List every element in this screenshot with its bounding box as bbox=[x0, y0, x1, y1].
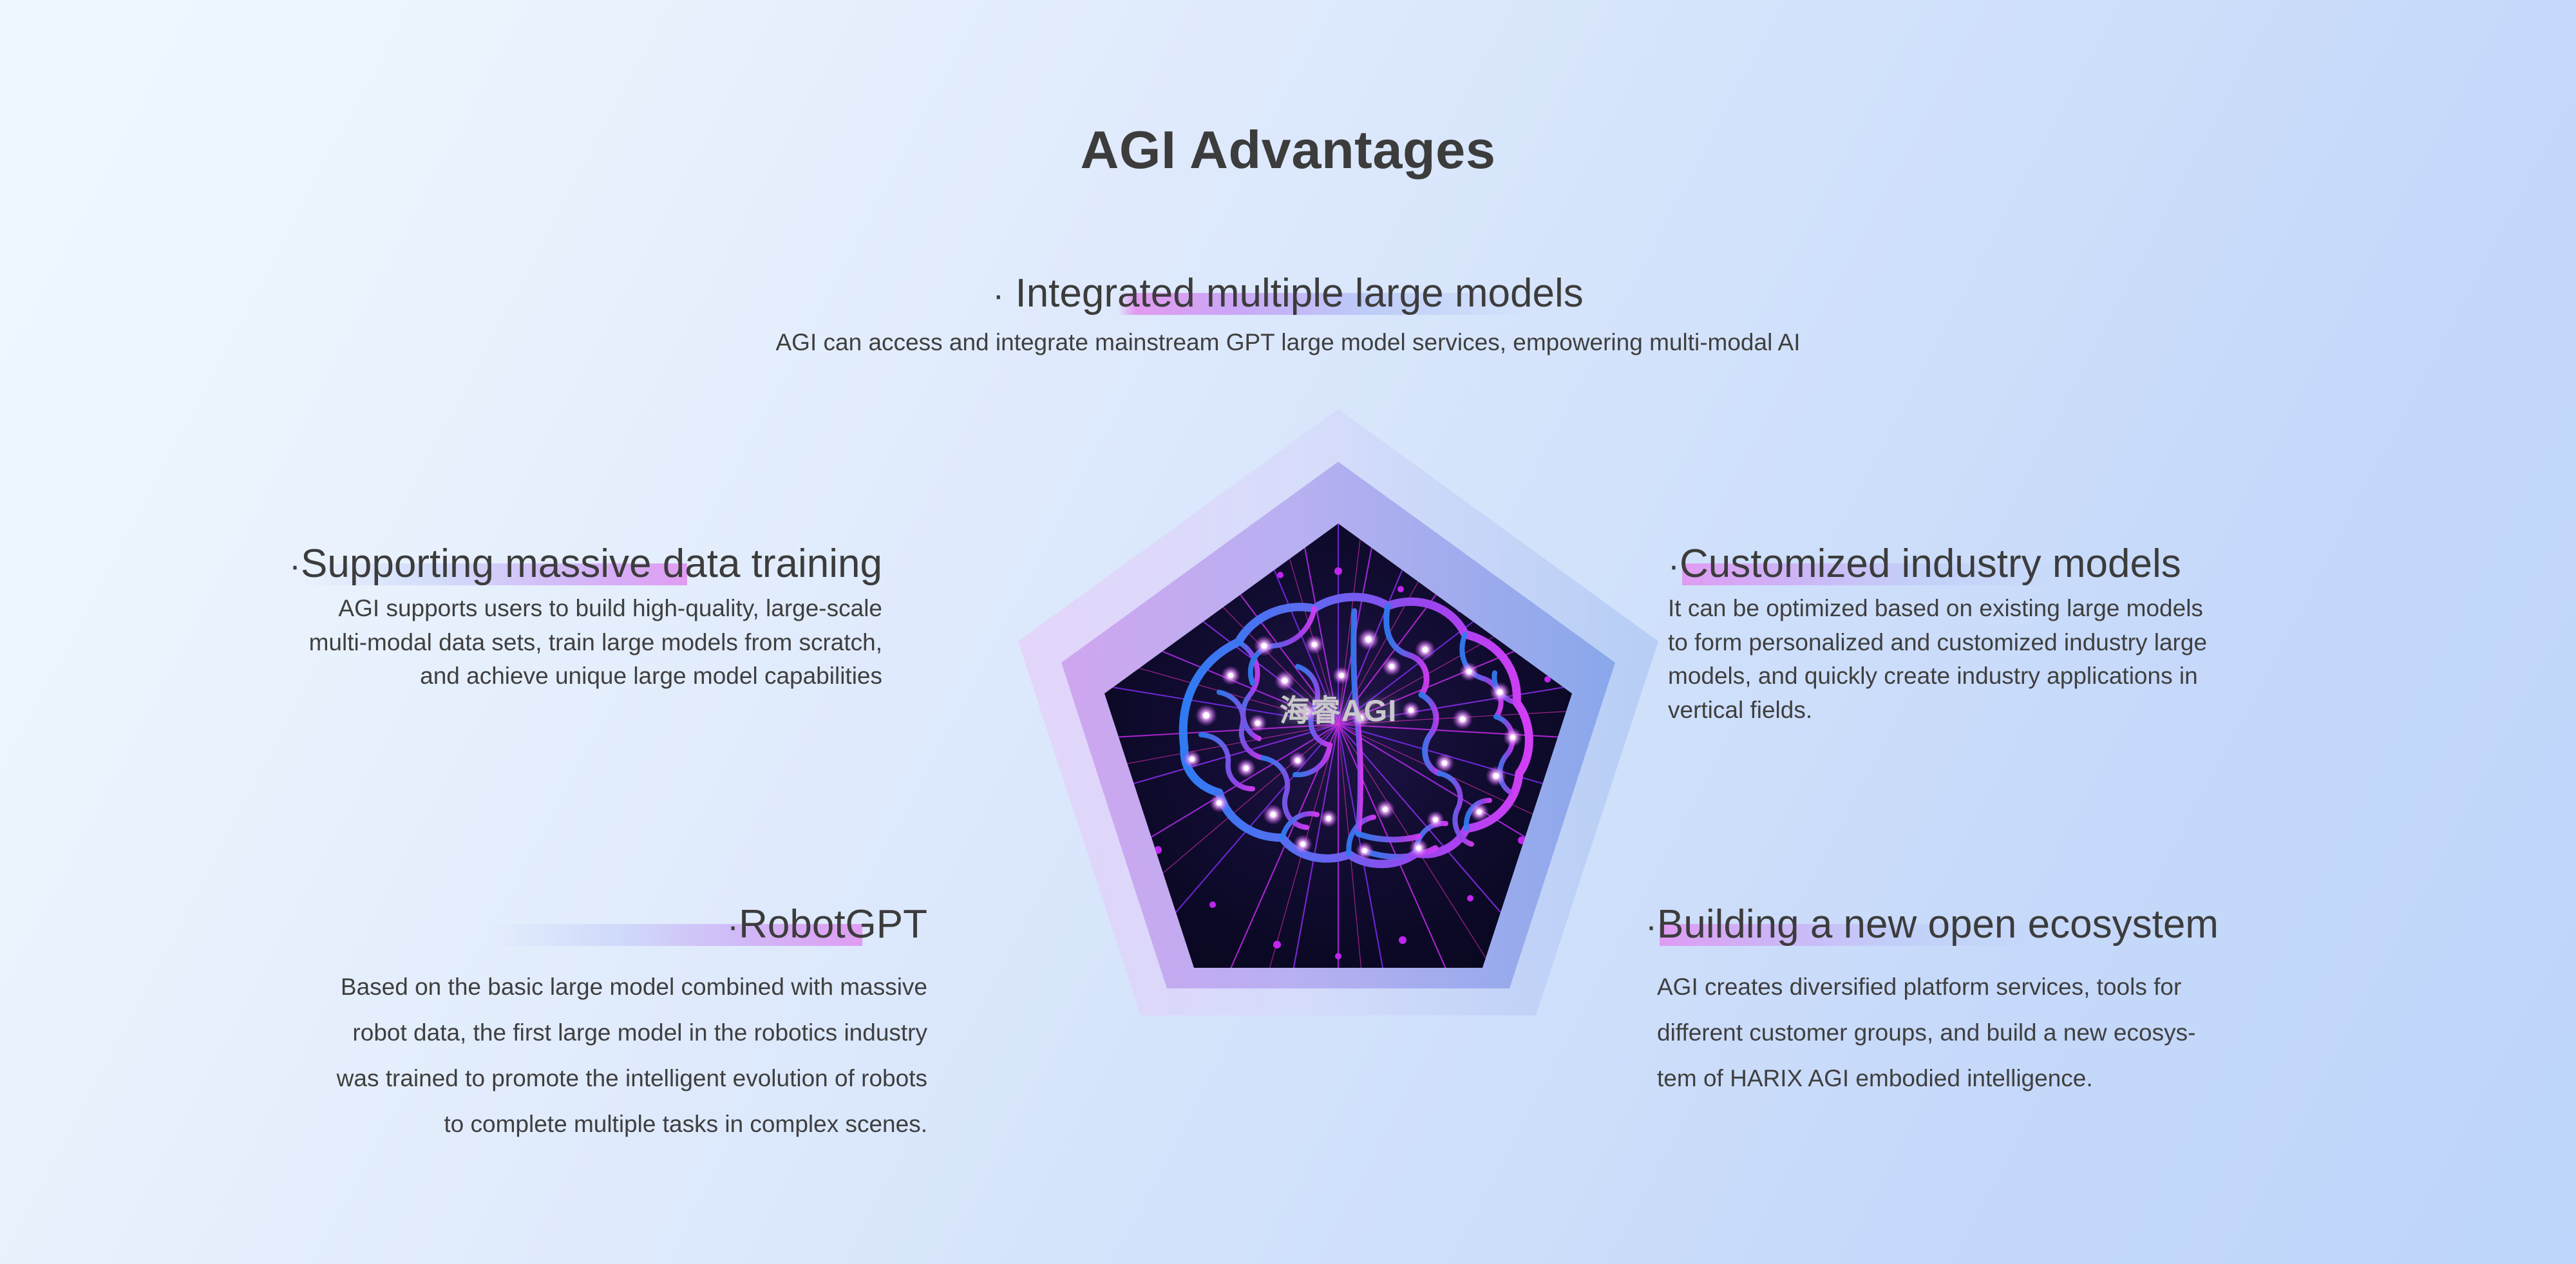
body-line: models, and quickly create industry appl… bbox=[1668, 659, 2524, 693]
body-line: different customer groups, and build a n… bbox=[1657, 1010, 2534, 1055]
body-line: It can be optimized based on existing la… bbox=[1668, 592, 2524, 626]
body-left-mid: AGI supports users to build high-quality… bbox=[0, 592, 882, 693]
bullet-dot: · bbox=[727, 907, 739, 945]
heading-left-mid: ·Supporting massive data training bbox=[289, 542, 882, 586]
page-title: AGI Advantages bbox=[0, 119, 2576, 181]
body-line: to form personalized and customized indu… bbox=[1668, 626, 2524, 660]
advantage-block-open-ecosystem: ·Building a new open ecosystem AGI creat… bbox=[1645, 901, 2534, 1101]
bullet-dot: · bbox=[289, 546, 301, 585]
heading-top-label: Integrated multiple large models bbox=[1015, 271, 1583, 316]
heading-wrap-left-mid: ·Supporting massive data training bbox=[289, 541, 882, 587]
heading-left-mid-label: Supporting massive data training bbox=[301, 542, 882, 586]
heading-right-bot: ·Building a new open ecosystem bbox=[1645, 902, 2219, 947]
body-line: multi-modal data sets, train large model… bbox=[0, 626, 882, 660]
body-top: AGI can access and integrate mainstream … bbox=[0, 325, 2576, 361]
body-line: Based on the basic large model combined … bbox=[0, 964, 927, 1010]
body-right-bot: AGI creates diversified platform service… bbox=[1645, 964, 2534, 1101]
body-line: vertical fields. bbox=[1668, 693, 2524, 728]
body-line: and achieve unique large model capabilit… bbox=[0, 659, 882, 693]
advantage-block-massive-data-training: ·Supporting massive data training AGI su… bbox=[0, 541, 902, 693]
body-left-bot: Based on the basic large model combined … bbox=[0, 964, 927, 1147]
heading-right-bot-label: Building a new open ecosystem bbox=[1657, 902, 2219, 947]
heading-wrap-right-mid: ·Customized industry models bbox=[1668, 541, 2181, 587]
heading-left-bot-label: RobotGPT bbox=[739, 902, 927, 947]
bullet-dot: · bbox=[992, 276, 1004, 314]
bullet-dot: · bbox=[1645, 907, 1657, 945]
body-right-mid: It can be optimized based on existing la… bbox=[1668, 592, 2524, 727]
heading-left-bot: ·RobotGPT bbox=[727, 902, 927, 947]
body-line: tem of HARIX AGI embodied intelligence. bbox=[1657, 1055, 2534, 1101]
body-line: robot data, the first large model in the… bbox=[0, 1010, 927, 1055]
heading-right-mid-label: Customized industry models bbox=[1680, 542, 2181, 586]
heading-right-mid: ·Customized industry models bbox=[1668, 542, 2181, 586]
advantage-block-customized-industry-models: ·Customized industry models It can be op… bbox=[1668, 541, 2524, 727]
bullet-dot: · bbox=[1668, 546, 1680, 585]
heading-wrap-left-bot: ·RobotGPT bbox=[727, 901, 927, 947]
advantage-block-robotgpt: ·RobotGPT Based on the basic large model… bbox=[0, 901, 947, 1147]
heading-top: · Integrated multiple large models bbox=[992, 271, 1583, 316]
agi-pentagon-graphic: 海睿AGI bbox=[1007, 390, 1670, 1091]
body-line: was trained to promote the intelligent e… bbox=[0, 1055, 927, 1101]
heading-wrap-right-bot: ·Building a new open ecosystem bbox=[1645, 901, 2219, 947]
body-line: AGI supports users to build high-quality… bbox=[0, 592, 882, 626]
heading-wrap-top: · Integrated multiple large models bbox=[992, 270, 1583, 316]
advantage-block-integrated-models: · Integrated multiple large models AGI c… bbox=[0, 270, 2576, 361]
body-line: AGI creates diversified platform service… bbox=[1657, 964, 2534, 1010]
body-line: to complete multiple tasks in complex sc… bbox=[0, 1101, 927, 1147]
